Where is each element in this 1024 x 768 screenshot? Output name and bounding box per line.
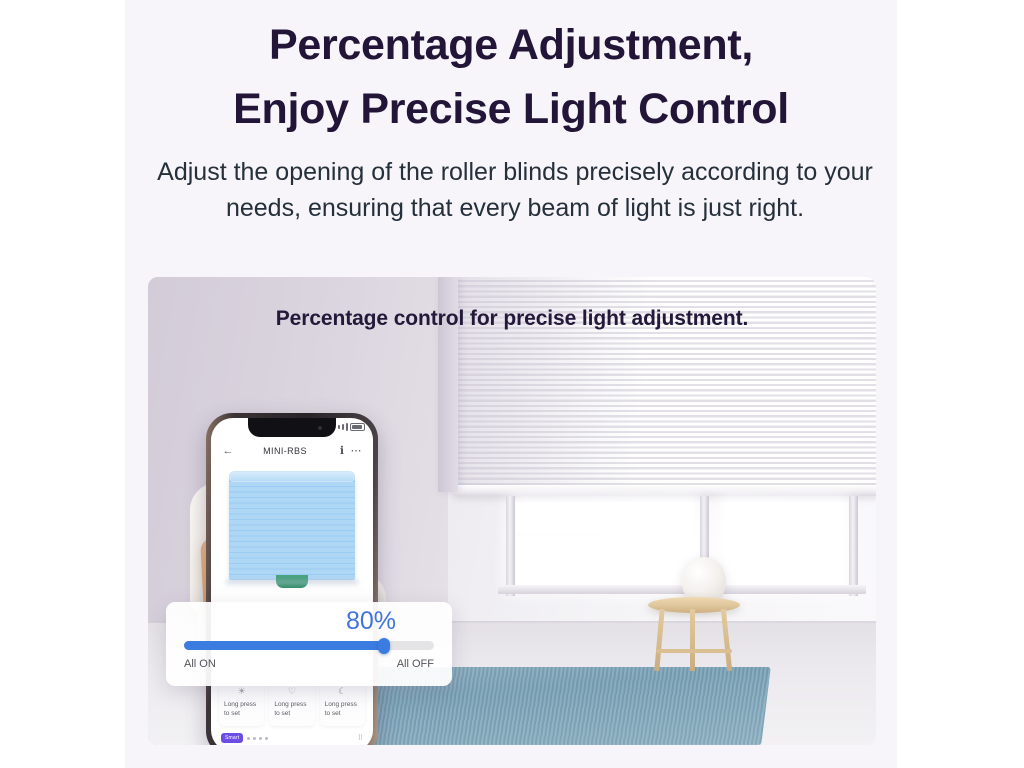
window-pane-top-right [724, 502, 844, 532]
scene-tile-label: Long press to set [274, 701, 309, 719]
window-pane-bottom-left [514, 536, 694, 586]
expand-icon[interactable]: ⠿ [358, 734, 363, 742]
roller-blind-graphic [229, 476, 355, 580]
heart-icon: ♡ [274, 686, 309, 697]
hero-image-panel: Percentage control for precise light adj… [148, 277, 876, 745]
slider-fill [184, 641, 384, 650]
blind-preview-card[interactable] [223, 470, 361, 594]
side-table [648, 597, 740, 675]
all-off-label[interactable]: All OFF [397, 658, 434, 670]
scene-tile[interactable]: ☀ Long press to set [219, 680, 264, 726]
percentage-slider-card[interactable]: 80% All ON All OFF [166, 602, 452, 686]
footer-dot [265, 737, 268, 740]
blind-bottom-rail [454, 485, 876, 496]
phone-notch [248, 418, 336, 437]
footer-dot [247, 737, 250, 740]
footer-dot [259, 737, 262, 740]
side-table-brace [656, 649, 732, 653]
front-camera-icon [318, 426, 322, 430]
page-title-line-1: Percentage Adjustment, [269, 21, 753, 69]
scene-tiles: ☀ Long press to set ♡ Long press to set … [219, 680, 365, 726]
percentage-value: 80% [184, 608, 434, 634]
slider-handle[interactable] [378, 638, 390, 654]
scene-tile-label: Long press to set [224, 701, 259, 719]
window-mullion-left [506, 496, 515, 596]
phone-mockup: ← MINI-RBS ℹ ⋯ ☀ Long press to set [206, 413, 378, 745]
scene-tile[interactable]: ♡ Long press to set [269, 680, 314, 726]
side-table-leg-right [721, 609, 732, 671]
window-pane-bottom-right [724, 536, 844, 586]
brightness-icon: ☀ [224, 686, 259, 697]
back-arrow-icon[interactable]: ← [221, 446, 235, 457]
page-subtitle: Adjust the opening of the roller blinds … [150, 155, 880, 226]
signal-bars-icon [346, 423, 348, 431]
smart-badge[interactable]: Smart [221, 733, 243, 743]
moon-icon: ☾ [325, 686, 360, 697]
slider-end-labels: All ON All OFF [184, 658, 434, 670]
side-table-leg-left [654, 609, 664, 671]
footer-dots [247, 737, 354, 740]
footer-dot [253, 737, 256, 740]
all-on-label[interactable]: All ON [184, 658, 216, 670]
signal-bars-icon [338, 425, 340, 429]
page-title-line-2: Enjoy Precise Light Control [125, 78, 897, 142]
battery-icon [350, 423, 365, 431]
panel-caption: Percentage control for precise light adj… [148, 307, 876, 331]
signal-bars-icon [342, 424, 344, 430]
scene-tile[interactable]: ☾ Long press to set [320, 680, 365, 726]
side-table-leg-mid [690, 609, 695, 671]
app-header-bar: ← MINI-RBS ℹ ⋯ [211, 438, 373, 464]
info-icon[interactable]: ℹ [335, 446, 349, 457]
page-title: Percentage Adjustment, Enjoy Precise Lig… [125, 14, 897, 141]
app-device-title: MINI-RBS [235, 446, 335, 456]
more-options-icon[interactable]: ⋯ [349, 446, 363, 457]
phone-footer-bar: Smart ⠿ [211, 728, 373, 745]
blind-drop-shadow [225, 580, 359, 588]
percentage-slider[interactable] [184, 641, 434, 650]
roller-blind-headrail [229, 471, 355, 482]
window-mullion-right [849, 496, 858, 596]
phone-status-bar [338, 423, 365, 431]
scene-tile-label: Long press to set [325, 701, 360, 719]
page-root: Percentage Adjustment, Enjoy Precise Lig… [0, 0, 1024, 768]
phone-screen: ← MINI-RBS ℹ ⋯ ☀ Long press to set [211, 418, 373, 745]
window-pane-top-left [514, 502, 694, 532]
